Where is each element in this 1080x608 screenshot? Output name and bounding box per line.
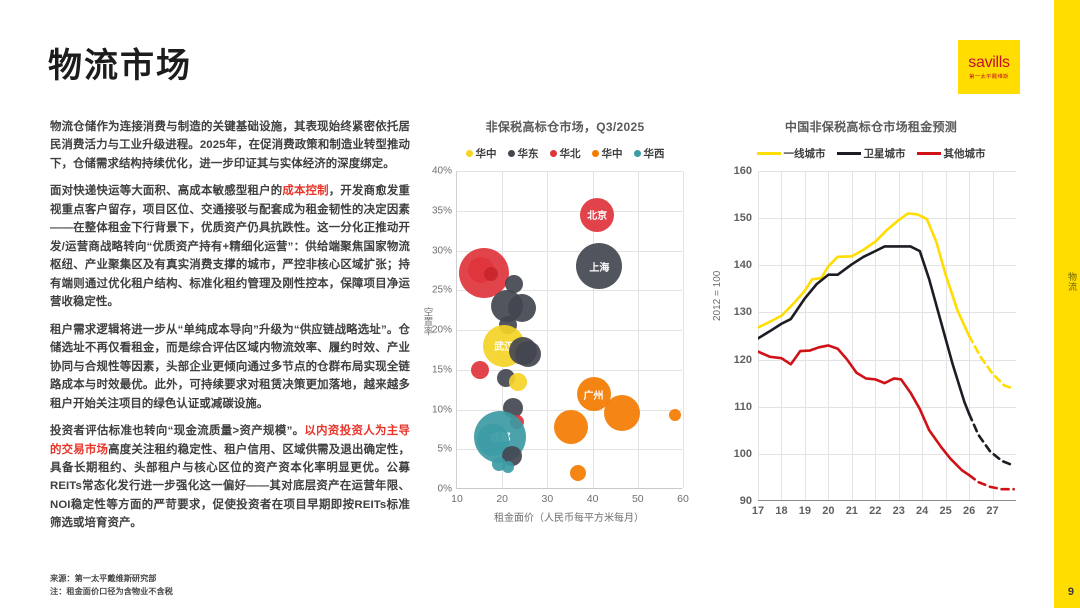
line-y-axis-label: 2012 = 100 xyxy=(712,271,723,321)
bubble-point-label: 上海 xyxy=(589,259,609,274)
bubble-point[interactable] xyxy=(484,267,498,281)
legend-dot-icon xyxy=(592,150,599,157)
legend-label: 一线城市 xyxy=(784,146,826,161)
y-axis-tick: 130 xyxy=(734,306,758,318)
body-text: ，开发商愈发重视重点客户留存，项目区位、交通接驳与配套成为租金韧性的决定因素——… xyxy=(50,185,410,308)
gridline xyxy=(457,171,682,172)
y-axis-tick: 120 xyxy=(734,354,758,366)
legend-item[interactable]: 华西 xyxy=(634,146,665,161)
gridline xyxy=(457,211,682,212)
bubble-point[interactable] xyxy=(554,410,588,444)
bubble-y-axis-label: 空置率 xyxy=(422,307,432,336)
bubble-chart-legend: 华中华东华北华中华西 xyxy=(420,146,710,161)
logo-subtext: 第一太平戴维斯 xyxy=(969,73,1009,80)
legend-line-icon xyxy=(757,152,781,155)
page-title: 物流市场 xyxy=(48,38,192,87)
body-paragraph: 投资者评估标准也转向“现金流质量>资产规模”。以内资投资人为主导的交易市场高度关… xyxy=(50,422,410,533)
line-axes: 9010011012013014015016017181920212223242… xyxy=(758,171,1016,501)
legend-dot-icon xyxy=(550,150,557,157)
footnotes: 来源：第一太平戴维斯研究部 注：租金面价口径为含物业不含税 xyxy=(50,573,173,598)
x-axis-tick: 30 xyxy=(542,488,554,505)
line-series-actual xyxy=(758,213,969,336)
x-axis-tick: 19 xyxy=(799,500,811,517)
y-axis-tick: 160 xyxy=(734,165,758,177)
legend-item[interactable]: 华北 xyxy=(550,146,581,161)
bubble-point[interactable] xyxy=(669,409,681,421)
bubble-point[interactable]: 北京 xyxy=(580,198,614,232)
legend-dot-icon xyxy=(466,150,473,157)
legend-line-icon xyxy=(837,152,861,155)
legend-item[interactable]: 华中 xyxy=(466,146,497,161)
legend-item[interactable]: 卫星城市 xyxy=(837,146,906,161)
x-axis-tick: 23 xyxy=(893,500,905,517)
body-text-column: 物流仓储作为连接消费与制造的关键基础设施，其表现始终紧密依托居民消费活力与工业升… xyxy=(50,118,410,542)
line-series-forecast xyxy=(969,475,1014,489)
x-axis-tick: 18 xyxy=(775,500,787,517)
y-axis-tick: 15% xyxy=(432,364,457,375)
x-axis-tick: 10 xyxy=(451,488,463,505)
gridline xyxy=(547,171,548,488)
bubble-point-label: 广州 xyxy=(584,387,604,402)
footnote-note: 注：租金面价口径为含物业不含税 xyxy=(50,586,173,599)
y-axis-tick: 100 xyxy=(734,448,758,460)
y-axis-tick: 5% xyxy=(438,444,457,455)
y-axis-tick: 40% xyxy=(432,166,457,177)
y-axis-tick: 10% xyxy=(432,404,457,415)
x-axis-tick: 20 xyxy=(496,488,508,505)
x-axis-tick: 26 xyxy=(963,500,975,517)
bubble-point[interactable] xyxy=(509,373,527,391)
body-paragraph: 物流仓储作为连接消费与制造的关键基础设施，其表现始终紧密依托居民消费活力与工业升… xyxy=(50,118,410,173)
bubble-chart: 非保税高标仓市场，Q3/2025 华中华东华北华中华西 空置率 0%5%10%1… xyxy=(420,118,710,558)
bubble-point[interactable] xyxy=(471,361,489,379)
legend-label: 华北 xyxy=(560,146,581,161)
legend-line-icon xyxy=(917,152,941,155)
x-axis-tick: 21 xyxy=(846,500,858,517)
x-axis-tick: 17 xyxy=(752,500,764,517)
legend-dot-icon xyxy=(508,150,515,157)
y-axis-tick: 20% xyxy=(432,325,457,336)
bubble-point[interactable] xyxy=(604,395,640,431)
bubble-point[interactable] xyxy=(570,465,586,481)
legend-item[interactable]: 一线城市 xyxy=(757,146,826,161)
bubble-chart-title: 非保税高标仓市场，Q3/2025 xyxy=(420,118,710,135)
body-text: 租户需求逻辑将进一步从“单纯成本导向”升级为“供应链战略选址”。仓储选址不再仅看… xyxy=(50,324,410,410)
bubble-point[interactable] xyxy=(515,341,541,367)
line-series-forecast xyxy=(969,336,1014,389)
legend-label: 华中 xyxy=(476,146,497,161)
body-text: 物流仓储作为连接消费与制造的关键基础设施，其表现始终紧密依托居民消费活力与工业升… xyxy=(50,121,410,170)
bubble-plot-area: 空置率 0%5%10%15%20%25%30%35%40%10203040506… xyxy=(420,171,710,543)
legend-label: 华中 xyxy=(602,146,623,161)
x-axis-tick: 20 xyxy=(822,500,834,517)
line-series-actual xyxy=(758,345,969,475)
page-number: 9 xyxy=(1068,586,1074,598)
bubble-x-axis-label: 租金面价（人民币每平方米每月） xyxy=(456,509,682,524)
legend-dot-icon xyxy=(634,150,641,157)
legend-label: 华东 xyxy=(518,146,539,161)
side-band-label: 物流 xyxy=(1058,272,1076,292)
y-axis-tick: 35% xyxy=(432,205,457,216)
slide-root: 物流 9 savills 第一太平戴维斯 物流市场 物流仓储作为连接消费与制造的… xyxy=(0,0,1080,608)
y-axis-tick: 110 xyxy=(734,401,758,413)
side-band xyxy=(1054,0,1080,608)
x-axis-tick: 40 xyxy=(587,488,599,505)
line-chart-legend: 一线城市卫星城市其他城市 xyxy=(712,146,1030,161)
x-axis-tick: 22 xyxy=(869,500,881,517)
y-axis-tick: 150 xyxy=(734,212,758,224)
bubble-point[interactable] xyxy=(502,461,514,473)
y-axis-tick: 25% xyxy=(432,285,457,296)
x-axis-tick: 50 xyxy=(632,488,644,505)
gridline xyxy=(683,171,684,488)
legend-item[interactable]: 华东 xyxy=(508,146,539,161)
line-series-actual xyxy=(758,246,969,413)
bubble-point[interactable]: 上海 xyxy=(576,243,622,289)
x-axis-tick: 60 xyxy=(677,488,689,505)
body-text: 投资者评估标准也转向“现金流质量>资产规模”。 xyxy=(50,425,304,437)
x-axis-tick: 27 xyxy=(986,500,998,517)
line-series-forecast xyxy=(969,414,1014,466)
legend-label: 卫星城市 xyxy=(864,146,906,161)
legend-item[interactable]: 其他城市 xyxy=(917,146,986,161)
legend-item[interactable]: 华中 xyxy=(592,146,623,161)
body-text: 面对快递快运等大面积、高成本敏感型租户的 xyxy=(50,185,282,197)
bubble-axes: 0%5%10%15%20%25%30%35%40%102030405060北京上… xyxy=(456,171,682,489)
line-series-canvas xyxy=(758,171,1016,501)
legend-label: 华西 xyxy=(644,146,665,161)
legend-label: 其他城市 xyxy=(944,146,986,161)
y-axis-tick: 30% xyxy=(432,245,457,256)
y-axis-tick: 140 xyxy=(734,259,758,271)
bubble-point-label: 北京 xyxy=(587,207,607,222)
gridline xyxy=(457,370,682,371)
gridline xyxy=(638,171,639,488)
body-text: 高度关注租约稳定性、租户信用、区域供需及退出确定性，具备长期租约、头部租户与核心… xyxy=(50,444,410,530)
body-paragraph: 租户需求逻辑将进一步从“单纯成本导向”升级为“供应链战略选址”。仓储选址不再仅看… xyxy=(50,321,410,413)
savills-logo: savills 第一太平戴维斯 xyxy=(958,40,1020,94)
logo-wordmark: savills xyxy=(968,55,1009,71)
x-axis-tick: 25 xyxy=(940,500,952,517)
line-chart: 中国非保税高标仓市场租金预测 一线城市卫星城市其他城市 2012 = 100 9… xyxy=(712,118,1030,558)
highlighted-text: 成本控制 xyxy=(282,185,328,197)
line-chart-title: 中国非保税高标仓市场租金预测 xyxy=(712,118,1030,135)
footnote-source: 来源：第一太平戴维斯研究部 xyxy=(50,573,173,586)
x-axis-tick: 24 xyxy=(916,500,928,517)
line-plot-area: 2012 = 100 90100110120130140150160171819… xyxy=(712,171,1030,543)
body-paragraph: 面对快递快运等大面积、高成本敏感型租户的成本控制，开发商愈发重视重点客户留存，项… xyxy=(50,182,410,311)
